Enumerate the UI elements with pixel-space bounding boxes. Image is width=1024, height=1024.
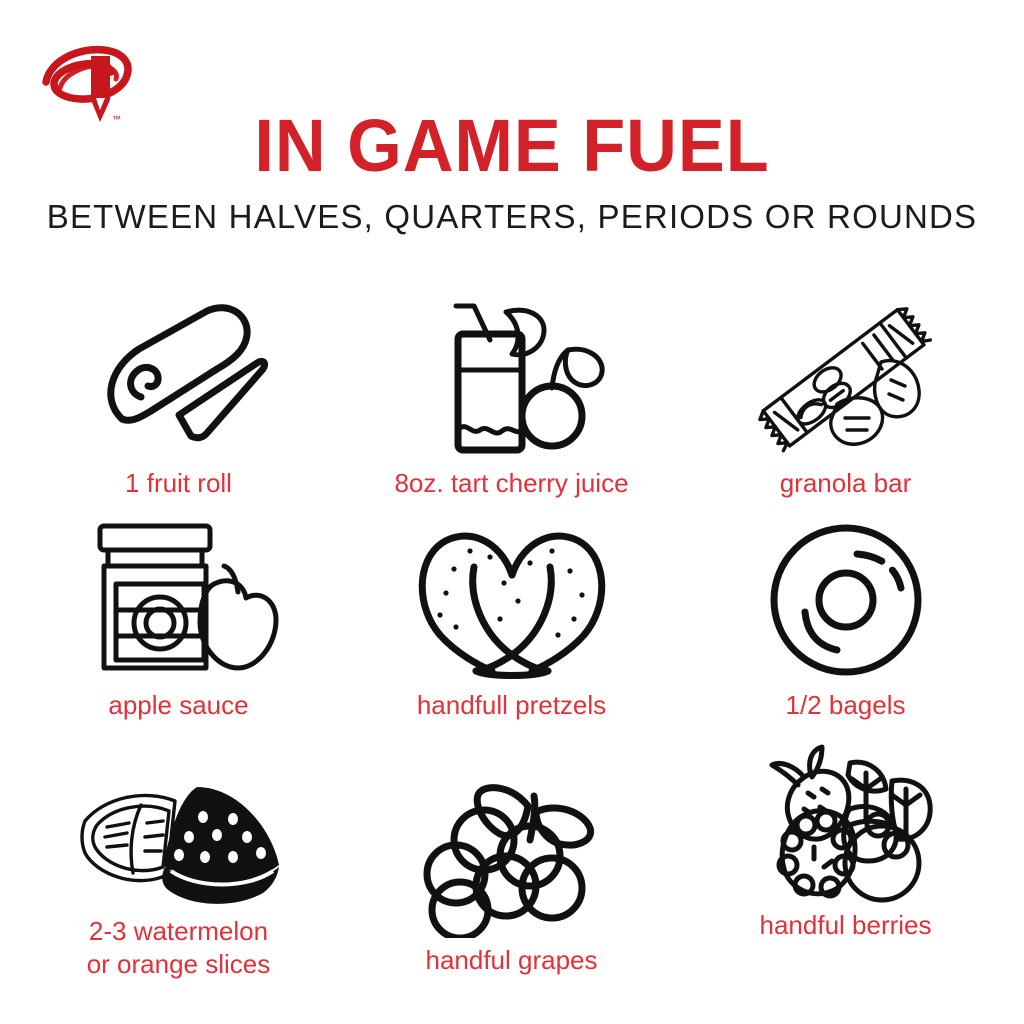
item-label: granola bar: [675, 467, 1016, 500]
item-granola-bar: granola bar: [675, 296, 1016, 500]
page-subtitle: BETWEEN HALVES, QUARTERS, PERIODS OR ROU…: [0, 196, 1024, 237]
item-cherry-juice: 8oz. tart cherry juice: [341, 296, 682, 500]
item-label: handful berries: [675, 909, 1016, 942]
apple-sauce-jar-icon: [74, 518, 284, 683]
bagel-icon: [761, 518, 931, 683]
item-berries: handful berries: [675, 738, 1016, 942]
icon-container: [8, 518, 349, 683]
grapes-icon: [412, 778, 612, 938]
icon-container: [8, 744, 349, 909]
item-label: apple sauce: [8, 689, 349, 722]
pretzel-icon: [412, 523, 612, 683]
header: IN GAME FUEL BETWEEN HALVES, QUARTERS, P…: [0, 108, 1024, 237]
item-grapes: handful grapes: [341, 758, 682, 977]
item-apple-sauce: apple sauce: [8, 518, 349, 722]
icon-container: [8, 296, 349, 461]
item-bagels: 1/2 bagels: [675, 518, 1016, 722]
icon-container: [675, 518, 1016, 683]
icon-container: [341, 758, 682, 938]
watermelon-orange-slice-icon: [71, 779, 286, 909]
granola-bar-icon: [741, 296, 951, 461]
icon-container: [675, 738, 1016, 903]
icon-container: [341, 518, 682, 683]
item-label: handful grapes: [341, 944, 682, 977]
berries-icon: [746, 743, 946, 903]
item-melon-orange: 2-3 watermelon or orange slices: [8, 744, 349, 981]
icon-container: [675, 296, 1016, 461]
item-label: 1 fruit roll: [8, 467, 349, 500]
item-label: 2-3 watermelon or orange slices: [8, 915, 349, 981]
cherry-juice-glass-icon: [412, 296, 612, 461]
item-pretzels: handfull pretzels: [341, 518, 682, 722]
fuel-item-grid: 1 fruit roll 8oz.: [0, 296, 1024, 996]
fruit-roll-icon: [79, 301, 279, 461]
item-label: 1/2 bagels: [675, 689, 1016, 722]
item-fruit-roll: 1 fruit roll: [8, 296, 349, 500]
item-label: handfull pretzels: [341, 689, 682, 722]
item-label: 8oz. tart cherry juice: [341, 467, 682, 500]
page-title: IN GAME FUEL: [26, 108, 999, 184]
icon-container: [341, 296, 682, 461]
